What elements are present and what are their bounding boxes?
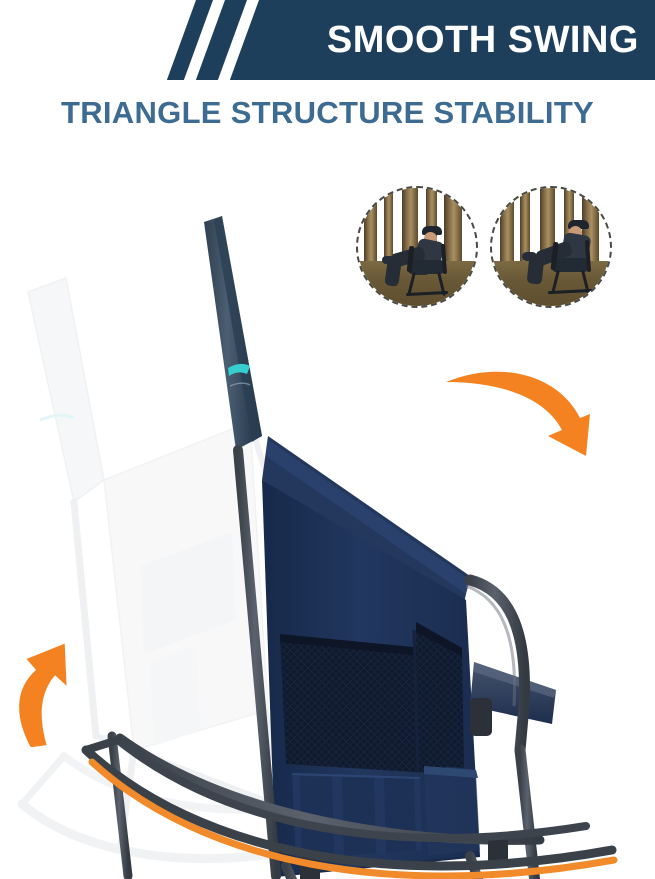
armrest-joint: [470, 698, 492, 736]
page-subtitle: TRIANGLE STRUCTURE STABILITY: [0, 95, 655, 131]
rocking-chair: [0, 150, 655, 879]
slot-pocket-2: [342, 777, 376, 856]
slot-pocket-3: [384, 778, 416, 853]
banner-title: SMOOTH SWING: [294, 0, 639, 80]
product-illustration: [0, 150, 655, 879]
backrest: [204, 216, 262, 450]
